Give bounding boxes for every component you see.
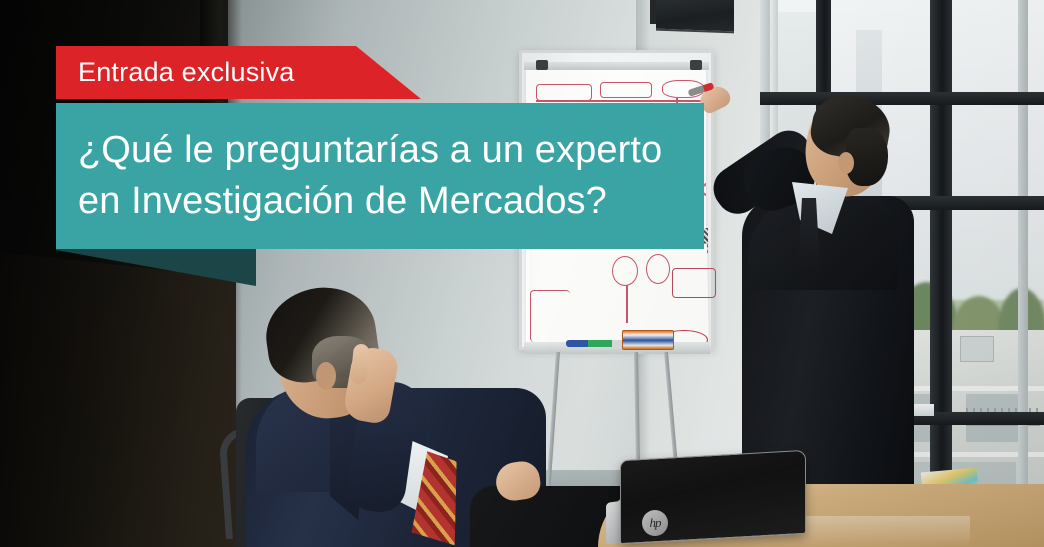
headline-line-1: ¿Qué le preguntarías a un experto (78, 125, 704, 176)
flipchart-clamp-bar (524, 62, 709, 70)
marker-diagram-box (600, 82, 652, 98)
flipchart-clip (690, 60, 702, 70)
window-mullion-vertical (930, 0, 952, 547)
screenshot-canvas: hp Entrada exclusiva ¿Qué le preguntaría… (0, 0, 1044, 547)
ceiling-speaker (656, 0, 734, 33)
window-mullion-vertical (1018, 0, 1028, 547)
marker-line (536, 100, 704, 102)
marker-diagram-bracket (530, 290, 570, 342)
marker-line (626, 285, 628, 323)
standing-man-ear (838, 152, 854, 174)
flipchart-clip (536, 60, 548, 70)
ribbon-label: Entrada exclusiva (56, 59, 295, 86)
marker-diagram-box (672, 268, 716, 298)
dark-door-panel (0, 252, 236, 547)
marker-diagram-circle (646, 254, 670, 284)
eraser-box (622, 330, 674, 350)
headline-line-2: en Investigación de Mercados? (78, 176, 704, 227)
window-mullion-horizontal (760, 92, 1044, 105)
marker-diagram-box (536, 84, 592, 101)
air-conditioner-unit (960, 336, 994, 362)
marker-diagram-circle (612, 256, 638, 286)
seated-man-ear (316, 362, 336, 390)
headline-block: ¿Qué le preguntarías a un experto en Inv… (56, 103, 704, 249)
hp-logo: hp (642, 510, 668, 536)
